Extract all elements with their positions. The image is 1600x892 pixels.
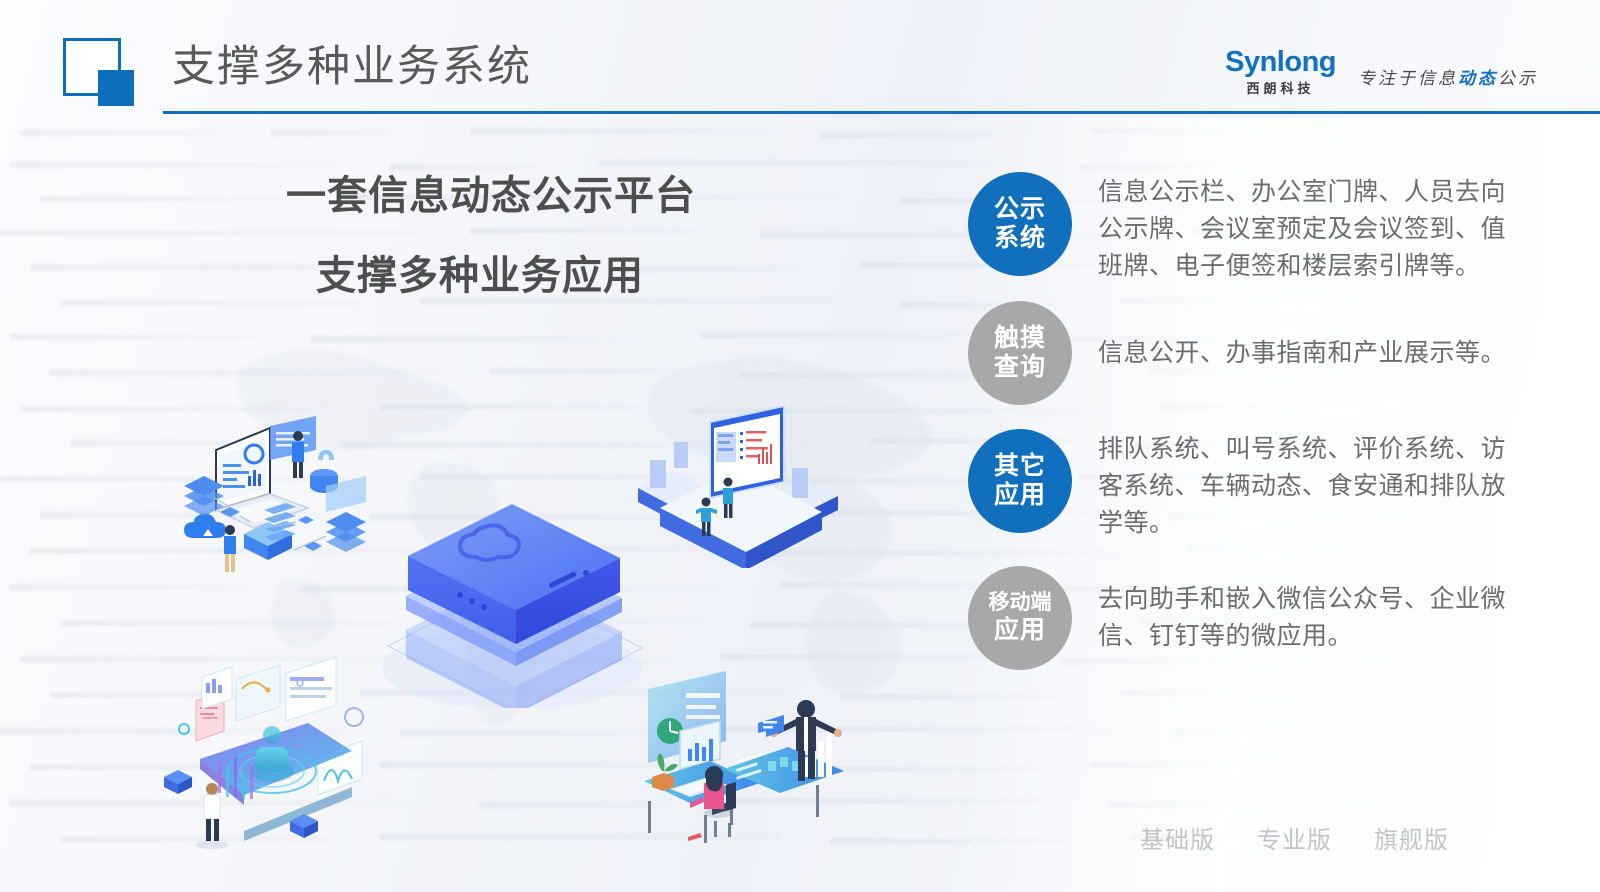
feature-text-yidongduan: 去向助手和嵌入微信公众号、企业微信、钉钉等的微应用。 — [1098, 581, 1528, 655]
badge-line-2: 应用 — [994, 616, 1046, 646]
badge-line-2: 应用 — [994, 481, 1046, 511]
badge-line-1: 其它 — [994, 452, 1046, 482]
badge-line-2: 查询 — [994, 353, 1046, 383]
feature-text-qita: 排队系统、叫号系统、评价系统、访客系统、车辆动态、食安通和排队放学等。 — [1098, 429, 1528, 542]
logo-filled-square — [98, 70, 134, 106]
badge-qita-yingyong[interactable]: 其它 应用 — [968, 429, 1072, 533]
brand-tagline-highlight: 动态 — [1458, 69, 1498, 88]
brand-tagline: 专注于信息动态公示 — [1358, 64, 1538, 89]
badge-line-1: 公示 — [994, 195, 1046, 225]
headline-line-1: 一套信息动态公示平台 — [286, 176, 918, 216]
brand-tagline-post: 公示 — [1498, 69, 1538, 88]
badge-line-2: 系统 — [994, 224, 1046, 254]
brand-name-cn: 西朗科技 — [1225, 82, 1336, 95]
edition-basic[interactable]: 基础版 — [1140, 820, 1215, 855]
headline-block: 一套信息动态公示平台 支撑多种业务应用 — [278, 176, 918, 296]
brand-name: Synlong — [1225, 48, 1336, 77]
square-logo-icon — [63, 38, 141, 106]
slide-root: 支撑多种业务系统 Synlong 西朗科技 专注于信息动态公示 一套信息动态公示… — [0, 0, 1600, 892]
badge-gongshi-xitong[interactable]: 公示 系统 — [968, 172, 1072, 276]
badge-chumo-chaxun[interactable]: 触摸 查询 — [968, 301, 1072, 405]
feature-row-yidongduan[interactable]: 移动端 应用 去向助手和嵌入微信公众号、企业微信、钉钉等的微应用。 — [968, 564, 1528, 672]
editions-footer: 基础版 专业版 旗舰版 — [1140, 820, 1449, 855]
brand-logo: Synlong 西朗科技 — [1225, 48, 1336, 95]
feature-row-qita[interactable]: 其它 应用 排队系统、叫号系统、评价系统、访客系统、车辆动态、食安通和排队放学等… — [968, 429, 1528, 542]
page-title: 支撑多种业务系统 — [172, 32, 532, 94]
edition-professional[interactable]: 专业版 — [1257, 820, 1332, 855]
slide-header: 支撑多种业务系统 Synlong 西朗科技 专注于信息动态公示 — [0, 0, 1600, 120]
brand-block: Synlong 西朗科技 专注于信息动态公示 — [1225, 48, 1538, 95]
badge-line-1: 触摸 — [994, 324, 1046, 354]
feature-text-gongshi: 信息公示栏、办公室门牌、人员去向公示牌、会议室预定及会议签到、值班牌、电子便签和… — [1098, 172, 1528, 285]
headline-line-2: 支撑多种业务应用 — [316, 256, 918, 296]
feature-row-gongshi[interactable]: 公示 系统 信息公示栏、办公室门牌、人员去向公示牌、会议室预定及会议签到、值班牌… — [968, 172, 1528, 285]
office-workspace-isometric-illustration — [608, 665, 848, 845]
feature-list: 公示 系统 信息公示栏、办公室门牌、人员去向公示牌、会议室预定及会议签到、值班牌… — [968, 172, 1528, 690]
feature-row-chumo[interactable]: 触摸 查询 信息公开、办事指南和产业展示等。 — [968, 301, 1528, 405]
feature-text-chumo: 信息公开、办事指南和产业展示等。 — [1098, 335, 1528, 372]
brand-tagline-pre: 专注于信息 — [1358, 69, 1458, 88]
badge-line-1: 移动端 — [989, 591, 1052, 616]
badge-yidongduan-yingyong[interactable]: 移动端 应用 — [968, 566, 1072, 670]
header-divider — [163, 111, 1600, 114]
mobile-hologram-isometric-illustration — [140, 655, 380, 855]
edition-flagship[interactable]: 旗舰版 — [1374, 820, 1449, 855]
